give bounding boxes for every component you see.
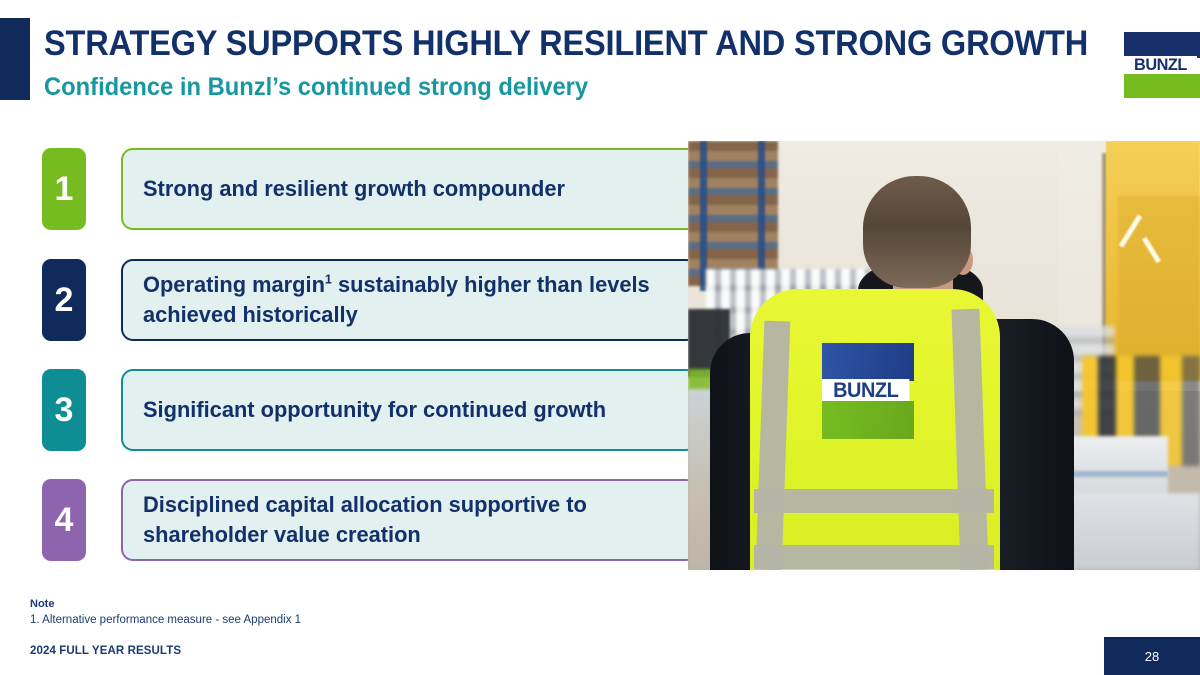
point-text-box-1: Strong and resilient growth compounder xyxy=(121,148,702,230)
photo-background-crate-3 xyxy=(1060,493,1200,570)
note-text: 1. Alternative performance measure - see… xyxy=(30,614,301,626)
warehouse-worker-photo: BUNZL xyxy=(688,141,1200,570)
point-label-2-before: Operating margin xyxy=(143,272,325,297)
photo-vest-stripe-horizontal-upper xyxy=(754,489,994,513)
header-accent-block xyxy=(0,18,30,100)
point-number-badge-1: 1 xyxy=(42,148,86,230)
page-subtitle: Confidence in Bunzl’s continued strong d… xyxy=(44,72,588,102)
logo-bottom-block xyxy=(1124,74,1200,98)
vest-logo-top-block xyxy=(822,343,914,381)
point-label-1: Strong and resilient growth compounder xyxy=(143,174,565,204)
deck-title: 2024 FULL YEAR RESULTS xyxy=(30,645,181,657)
photo-worker-head xyxy=(863,176,971,288)
point-label-3: Significant opportunity for continued gr… xyxy=(143,395,606,425)
point-label-2: Operating margin1 sustainably higher tha… xyxy=(143,270,666,330)
point-text-box-2: Operating margin1 sustainably higher tha… xyxy=(121,259,698,341)
point-label-4: Disciplined capital allocation supportiv… xyxy=(143,490,666,550)
note-label: Note xyxy=(30,598,54,610)
point-number-badge-3: 3 xyxy=(42,369,86,451)
vest-logo-wordmark: BUNZL xyxy=(822,379,909,403)
point-number-badge-4: 4 xyxy=(42,479,86,561)
vest-logo-bottom-block xyxy=(822,401,914,439)
page-number-badge: 28 xyxy=(1104,637,1200,675)
point-text-box-3: Significant opportunity for continued gr… xyxy=(121,369,698,451)
logo-wordmark: BUNZL xyxy=(1124,56,1197,74)
page-title: STRATEGY SUPPORTS HIGHLY RESILIENT AND S… xyxy=(44,24,1030,64)
bunzl-logo: BUNZL xyxy=(1124,32,1200,98)
photo-doorway-inner xyxy=(1118,196,1200,381)
point-number-badge-2: 2 xyxy=(42,259,86,341)
point-text-box-4: Disciplined capital allocation supportiv… xyxy=(121,479,698,561)
photo-vest-stripe-horizontal-lower xyxy=(754,545,994,569)
point-label-2-footnote-ref: 1 xyxy=(325,272,332,287)
photo-vest-bunzl-logo: BUNZL xyxy=(822,343,914,439)
